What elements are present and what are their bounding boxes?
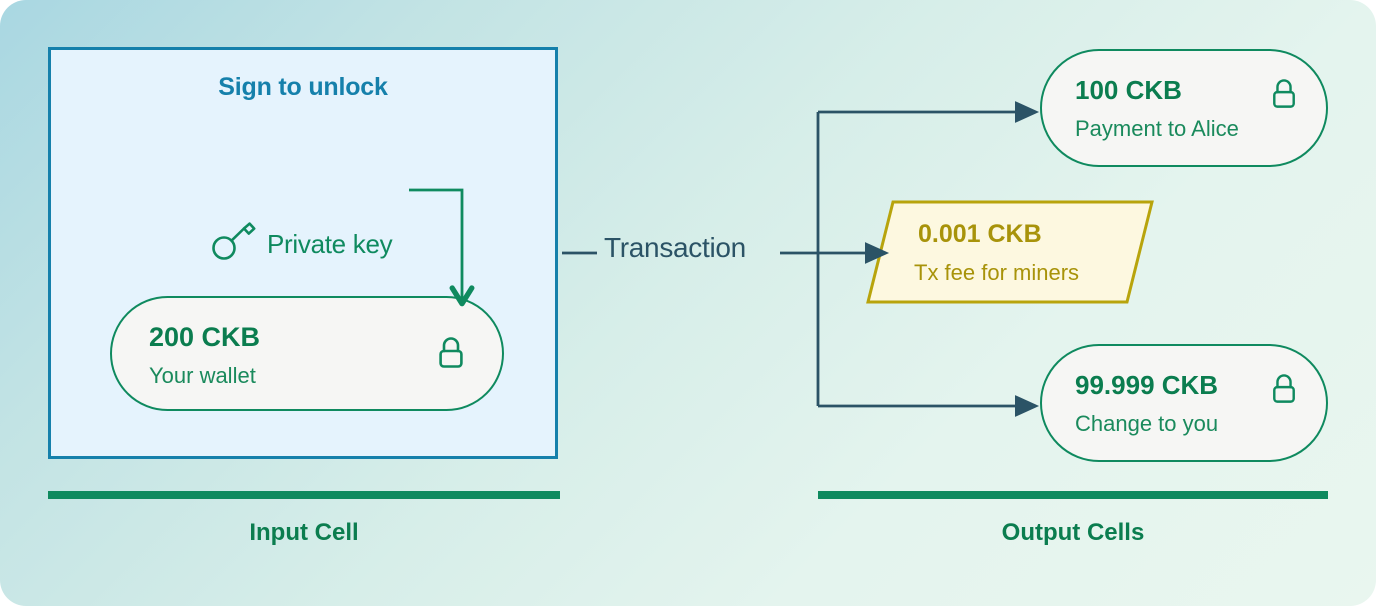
- lock-icon: [1270, 371, 1298, 412]
- private-key-group: Private key: [211, 222, 392, 267]
- transaction-label: Transaction: [604, 232, 746, 264]
- cell-amount: 200 CKB: [149, 322, 260, 353]
- cell-description: Change to you: [1075, 411, 1218, 437]
- diagram-canvas: Sign to unlock Private key 200 CKB Your …: [0, 0, 1376, 606]
- cell-description: Payment to Alice: [1075, 116, 1239, 142]
- sign-to-unlock-title: Sign to unlock: [51, 73, 555, 102]
- private-key-label: Private key: [267, 229, 392, 260]
- parallelogram-shape: [866, 200, 1154, 304]
- key-icon: [211, 222, 257, 267]
- cell-amount: 99.999 CKB: [1075, 370, 1218, 401]
- output-cells-underline: [818, 491, 1328, 499]
- output-cell-payment[interactable]: 100 CKB Payment to Alice: [1040, 49, 1328, 167]
- output-cells-footer-label: Output Cells: [818, 519, 1328, 547]
- lock-icon: [436, 334, 466, 377]
- cell-amount: 100 CKB: [1075, 75, 1182, 106]
- cell-description: Tx fee for miners: [914, 260, 1079, 286]
- input-cell-underline: [48, 491, 560, 499]
- cell-description: Your wallet: [149, 363, 256, 389]
- output-cell-tx-fee[interactable]: 0.001 CKB Tx fee for miners: [866, 200, 1154, 304]
- output-cell-change[interactable]: 99.999 CKB Change to you: [1040, 344, 1328, 462]
- input-cell-wallet[interactable]: 200 CKB Your wallet: [110, 296, 504, 411]
- lock-icon: [1270, 76, 1298, 117]
- input-cell-footer-label: Input Cell: [48, 519, 560, 547]
- cell-amount: 0.001 CKB: [918, 220, 1042, 249]
